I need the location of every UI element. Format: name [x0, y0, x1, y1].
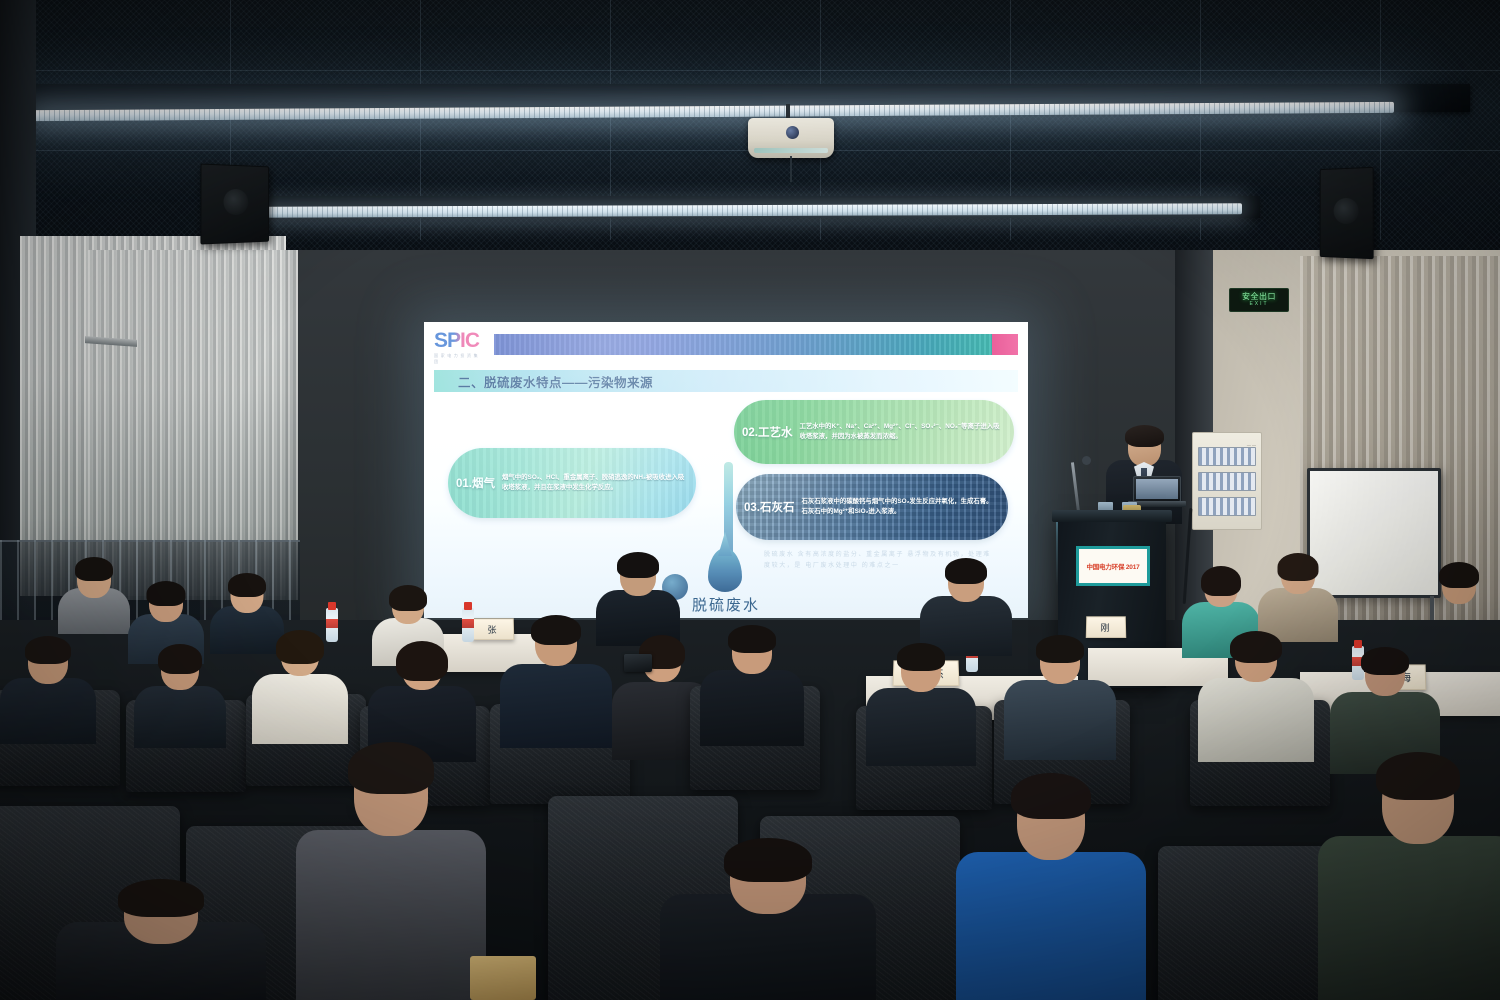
name-placard: 刚	[1086, 616, 1126, 638]
spic-logo-mark: SPIC	[434, 330, 486, 351]
slide-header-band	[494, 334, 1018, 355]
water-bottle	[462, 608, 474, 642]
laptop-lid	[1133, 476, 1181, 502]
exit-sign-en: EXIT	[1249, 302, 1268, 307]
person-hair	[1278, 553, 1319, 581]
pill-03-text: 石灰石浆液中的碳酸钙与烟气中的SO₂发生反应并氧化，生成石膏。石灰石中的Mg²⁺…	[802, 497, 999, 516]
person-body	[1004, 680, 1116, 760]
ceiling-panel-seam	[1380, 0, 1381, 240]
person-hair	[1361, 647, 1409, 675]
smartphone-icon	[624, 654, 652, 672]
person-hair	[724, 838, 812, 882]
audience-member	[700, 630, 804, 746]
person-hair	[531, 615, 581, 645]
audience-member	[1004, 640, 1116, 760]
person-hair	[617, 552, 659, 578]
person-hair	[147, 581, 186, 606]
spic-logo: SPIC 国家电力投资集团	[434, 330, 486, 365]
slide-title-bar: 二、脱硫废水特点——污染物来源	[434, 370, 1018, 392]
person-body	[1418, 598, 1500, 656]
audience-member	[920, 562, 1012, 656]
person-hair	[945, 558, 987, 584]
audience-member	[1258, 556, 1338, 642]
person-hair	[75, 557, 113, 581]
microphone-icon	[1082, 456, 1091, 465]
person-body	[866, 688, 976, 766]
audience-member	[866, 648, 976, 766]
person-hair	[1376, 752, 1460, 800]
conference-room-scene: 安全出口 EXIT — — SPIC 国家电力投资集团 二、脱硫废水特点	[0, 0, 1500, 1000]
audience-member-foreground	[956, 782, 1146, 1000]
person-hair	[728, 625, 776, 653]
placard-name: 张	[487, 623, 498, 636]
person-body	[1318, 836, 1500, 1000]
person-body	[252, 674, 348, 744]
person-hair	[118, 879, 204, 917]
slide-pill-01: 01.烟气 烟气中的SO₂、HCl、重金属离子、脱硝逃逸的NH₃被吸收进入吸收塔…	[448, 448, 696, 518]
band-accent-pink	[992, 334, 1018, 355]
person-hair	[1439, 562, 1479, 588]
projector-trim	[754, 148, 828, 153]
audience-member-foreground	[56, 884, 266, 1000]
placard-name: 刚	[1100, 621, 1111, 634]
person-body	[134, 686, 226, 748]
lectern-banner: 中国电力环保 2017	[1076, 546, 1150, 586]
audience-member	[58, 560, 130, 634]
speaker-cone-icon	[223, 189, 248, 215]
slide-pill-03: 03.石灰石 石灰石浆液中的碳酸钙与烟气中的SO₂发生反应并氧化，生成石膏。石灰…	[736, 474, 1008, 540]
water-drop-icon	[708, 548, 742, 592]
pill-02-text: 工艺水中的K⁺、Na⁺、Ca²⁺、Mg²⁺、Cl⁻、SO₄²⁻、NO₃⁻等离子进…	[800, 422, 1005, 441]
audience-member-foreground	[296, 752, 486, 1000]
person-hair	[1036, 635, 1084, 663]
person-body	[956, 852, 1146, 1000]
projector-cable	[790, 156, 792, 182]
slide-title-text: 二、脱硫废水特点——污染物来源	[458, 372, 653, 391]
person-hair	[348, 742, 434, 794]
person-hair	[396, 641, 448, 681]
person-hair	[389, 585, 427, 611]
exit-sign-zh: 安全出口	[1242, 293, 1276, 301]
projector-lens-icon	[786, 126, 799, 139]
wall-panel-breaker-row[interactable]	[1198, 472, 1256, 491]
wall-panel-breaker-row[interactable]	[1198, 497, 1256, 516]
spic-logo-subtitle: 国家电力投资集团	[434, 353, 486, 365]
slide-pill-02: 02.工艺水 工艺水中的K⁺、Na⁺、Ca²⁺、Mg²⁺、Cl⁻、SO₄²⁻、N…	[734, 400, 1014, 464]
notebook	[470, 956, 536, 1000]
person-hair	[1230, 631, 1282, 663]
pill-01-text: 烟气中的SO₂、HCl、重金属离子、脱硝逃逸的NH₃被吸收进入吸收塔浆液，并且在…	[502, 473, 686, 492]
person-hair	[897, 643, 945, 671]
person-body	[700, 670, 804, 746]
person-hair	[1201, 566, 1241, 596]
audience-member	[1198, 636, 1314, 762]
audience-member	[252, 634, 348, 744]
slide-header: SPIC 国家电力投资集团	[434, 330, 1018, 365]
person-hair	[228, 573, 266, 597]
wall-control-panel[interactable]: — —	[1192, 432, 1262, 530]
person-body	[500, 664, 612, 748]
wall-speaker-right	[1320, 167, 1374, 259]
audience-member	[134, 648, 226, 748]
slide-drop-label: 脱硫废水	[692, 594, 760, 615]
audience-member	[500, 620, 612, 748]
exit-sign: 安全出口 EXIT	[1229, 288, 1289, 312]
lectern-top	[1052, 510, 1172, 522]
band-texture	[494, 334, 1018, 355]
wall-panel-breaker-row[interactable]	[1198, 447, 1256, 466]
audience-member-foreground	[660, 844, 876, 1000]
person-hair	[276, 630, 324, 664]
person-hair	[25, 636, 71, 664]
audience-member-foreground	[1318, 762, 1500, 1000]
audience-member	[1418, 566, 1500, 656]
pill-03-label: 03.石灰石	[744, 499, 795, 515]
person-hair	[1011, 773, 1091, 819]
audience-member	[0, 640, 96, 744]
pill-01-label: 01.烟气	[456, 475, 495, 491]
person-body	[0, 678, 96, 744]
speaker-cone-icon	[1334, 198, 1359, 224]
wall-speaker-left	[200, 163, 269, 244]
lectern-banner-text: 中国电力环保 2017	[1086, 561, 1139, 571]
ceiling-panel-seam	[0, 70, 1500, 71]
laptop-screen	[1136, 479, 1178, 499]
person-body	[296, 830, 486, 1000]
person-hair	[158, 644, 202, 674]
pill-02-label: 02.工艺水	[742, 424, 793, 440]
person-body	[1198, 678, 1314, 762]
ceiling-projector	[748, 118, 834, 158]
presenter-hair	[1125, 425, 1164, 447]
